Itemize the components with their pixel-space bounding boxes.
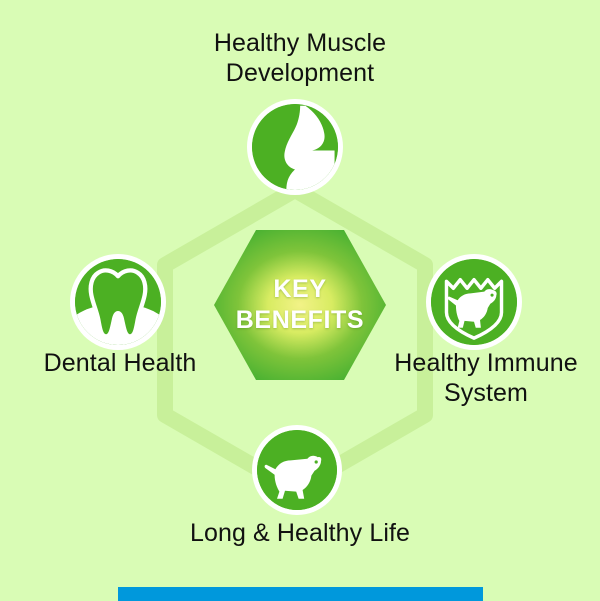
dog-icon xyxy=(257,430,337,510)
blue-divider-bar xyxy=(118,587,483,601)
tooth-icon xyxy=(75,259,161,345)
benefit-icon-healthy-muscle-development[interactable] xyxy=(252,104,338,190)
benefit-label-healthy-muscle-development: Healthy Muscle Development xyxy=(150,28,450,88)
benefit-label-long-and-healthy-life: Long & Healthy Life xyxy=(150,518,450,548)
flexed-bicep-icon xyxy=(252,104,338,190)
benefit-icon-healthy-immune-system[interactable] xyxy=(431,259,517,345)
benefit-label-dental-health: Dental Health xyxy=(0,348,245,378)
hexagon-title-line1: KEY xyxy=(273,274,326,305)
benefit-label-healthy-immune-system: Healthy Immune System xyxy=(372,348,600,408)
hexagon-title-line2: BENEFITS xyxy=(236,305,364,336)
benefit-icon-long-and-healthy-life[interactable] xyxy=(257,430,337,510)
benefit-icon-dental-health[interactable] xyxy=(75,259,161,345)
dog-shield-icon xyxy=(431,259,517,345)
key-benefits-infographic: KEY BENEFITS Healthy Muscle Development … xyxy=(0,0,600,600)
